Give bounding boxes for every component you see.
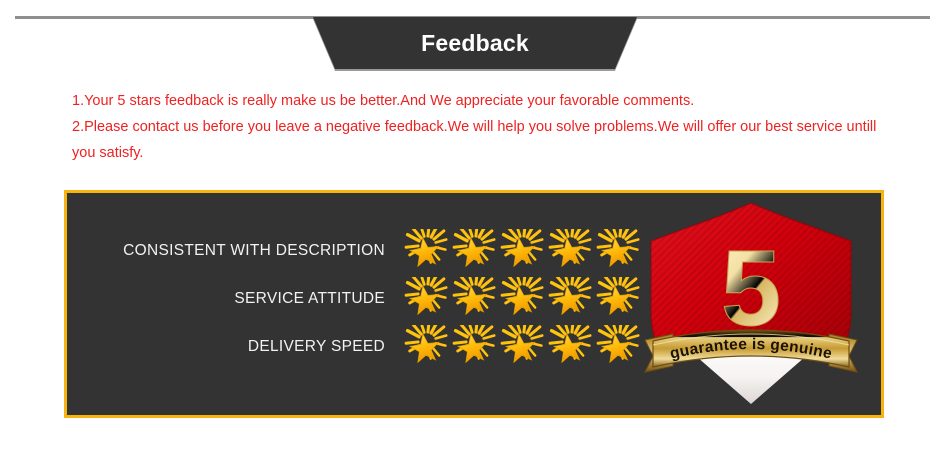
star-icon: [547, 277, 595, 321]
rating-label: CONSISTENT WITH DESCRIPTION: [85, 242, 403, 260]
note-line-1: 1.Your 5 stars feedback is really make u…: [72, 88, 892, 114]
page-title: Feedback: [313, 17, 637, 69]
guarantee-badge: 5 guarantee is genuine: [643, 201, 859, 406]
rating-label: DELIVERY SPEED: [85, 338, 403, 356]
rating-panel: CONSISTENT WITH DESCRIPTION SERVICE ATTI…: [64, 190, 884, 418]
star-rating: [403, 277, 643, 321]
star-icon: [595, 325, 643, 369]
star-icon: [595, 229, 643, 273]
star-icon: [451, 325, 499, 369]
rating-list: CONSISTENT WITH DESCRIPTION SERVICE ATTI…: [85, 227, 645, 371]
star-rating: [403, 325, 643, 369]
star-icon: [499, 325, 547, 369]
star-rating: [403, 229, 643, 273]
feedback-notes: 1.Your 5 stars feedback is really make u…: [72, 88, 892, 166]
rating-row: SERVICE ATTITUDE: [85, 275, 645, 323]
star-icon: [403, 277, 451, 321]
star-icon: [403, 229, 451, 273]
rating-row: CONSISTENT WITH DESCRIPTION: [85, 227, 645, 275]
star-icon: [451, 277, 499, 321]
star-icon: [451, 229, 499, 273]
star-icon: [595, 277, 643, 321]
star-icon: [499, 277, 547, 321]
star-icon: [499, 229, 547, 273]
star-icon: [547, 325, 595, 369]
rating-label: SERVICE ATTITUDE: [85, 290, 403, 308]
feedback-banner: Feedback: [313, 17, 637, 69]
star-icon: [547, 229, 595, 273]
star-icon: [403, 325, 451, 369]
rating-row: DELIVERY SPEED: [85, 323, 645, 371]
note-line-2: 2.Please contact us before you leave a n…: [72, 114, 892, 166]
page-header: Feedback: [0, 0, 950, 80]
